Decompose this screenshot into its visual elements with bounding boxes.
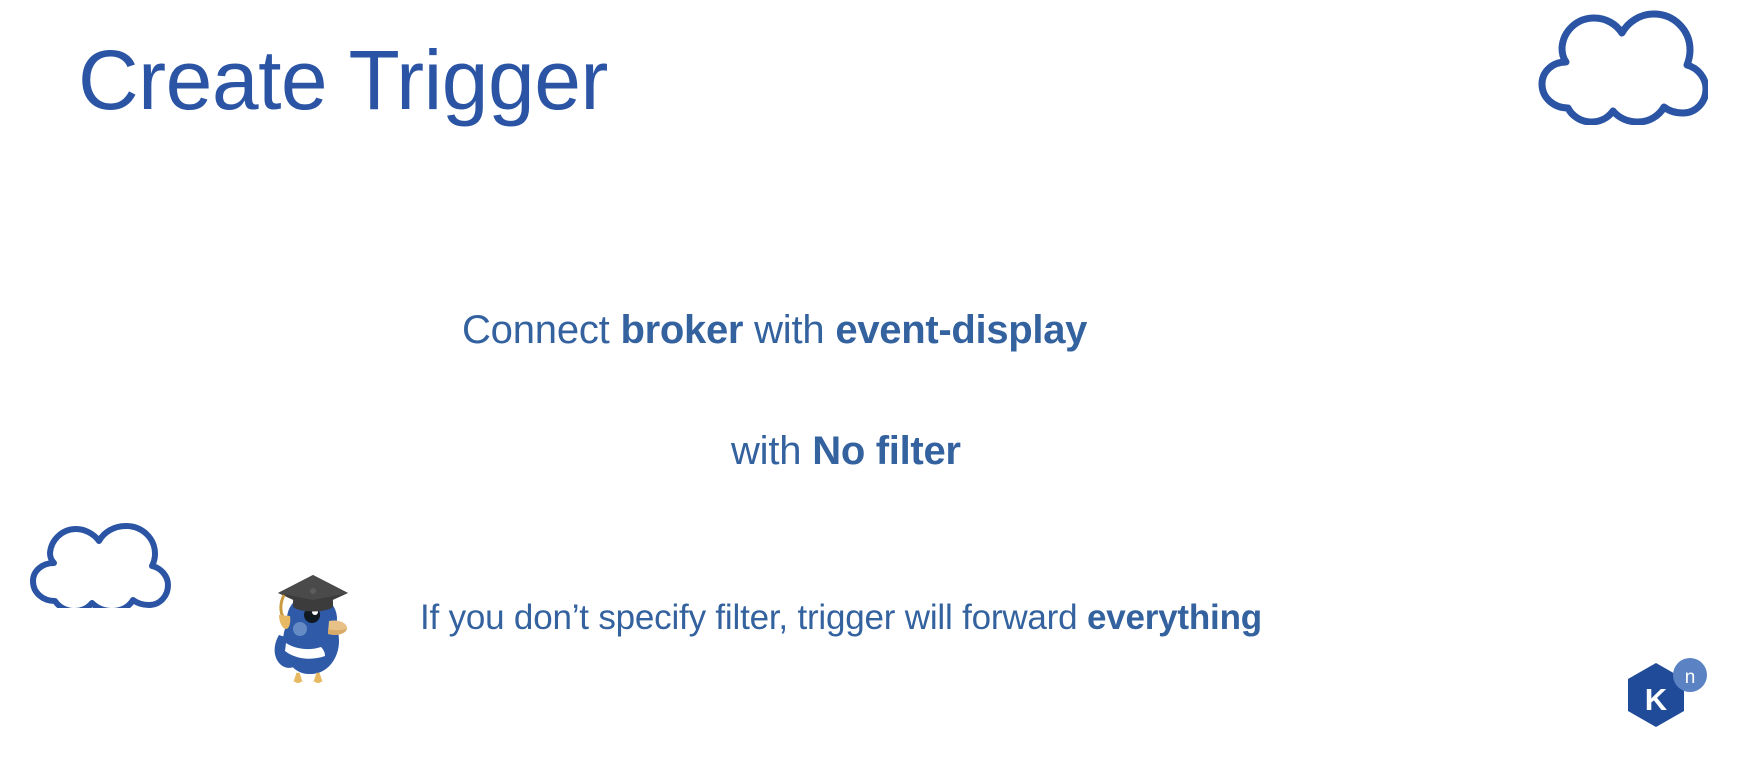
svg-text:n: n xyxy=(1685,667,1696,688)
svg-text:K: K xyxy=(1645,682,1668,717)
page-title: Create Trigger xyxy=(78,36,608,124)
body-line-filter: with No filter xyxy=(731,429,961,474)
text-everything-emphasis: everything xyxy=(1087,598,1262,637)
text-filter-prefix: with xyxy=(731,429,812,473)
text-connect-prefix: Connect xyxy=(462,308,621,352)
text-broker-emphasis: broker xyxy=(621,308,744,352)
text-note-prefix: If you don’t specify filter, trigger wil… xyxy=(420,598,1087,637)
knative-logo: K n xyxy=(1618,655,1710,752)
cloud-outline-icon xyxy=(1528,10,1708,130)
graduate-bird-icon xyxy=(271,569,349,691)
text-event-display-emphasis: event-display xyxy=(835,308,1087,352)
body-line-note: If you don’t specify filter, trigger wil… xyxy=(420,598,1262,638)
cloud-outline-icon xyxy=(22,523,177,613)
body-line-connect: Connect broker with event-display xyxy=(462,308,1087,353)
text-no-filter-emphasis: No filter xyxy=(812,429,960,473)
text-connect-middle: with xyxy=(743,308,835,352)
